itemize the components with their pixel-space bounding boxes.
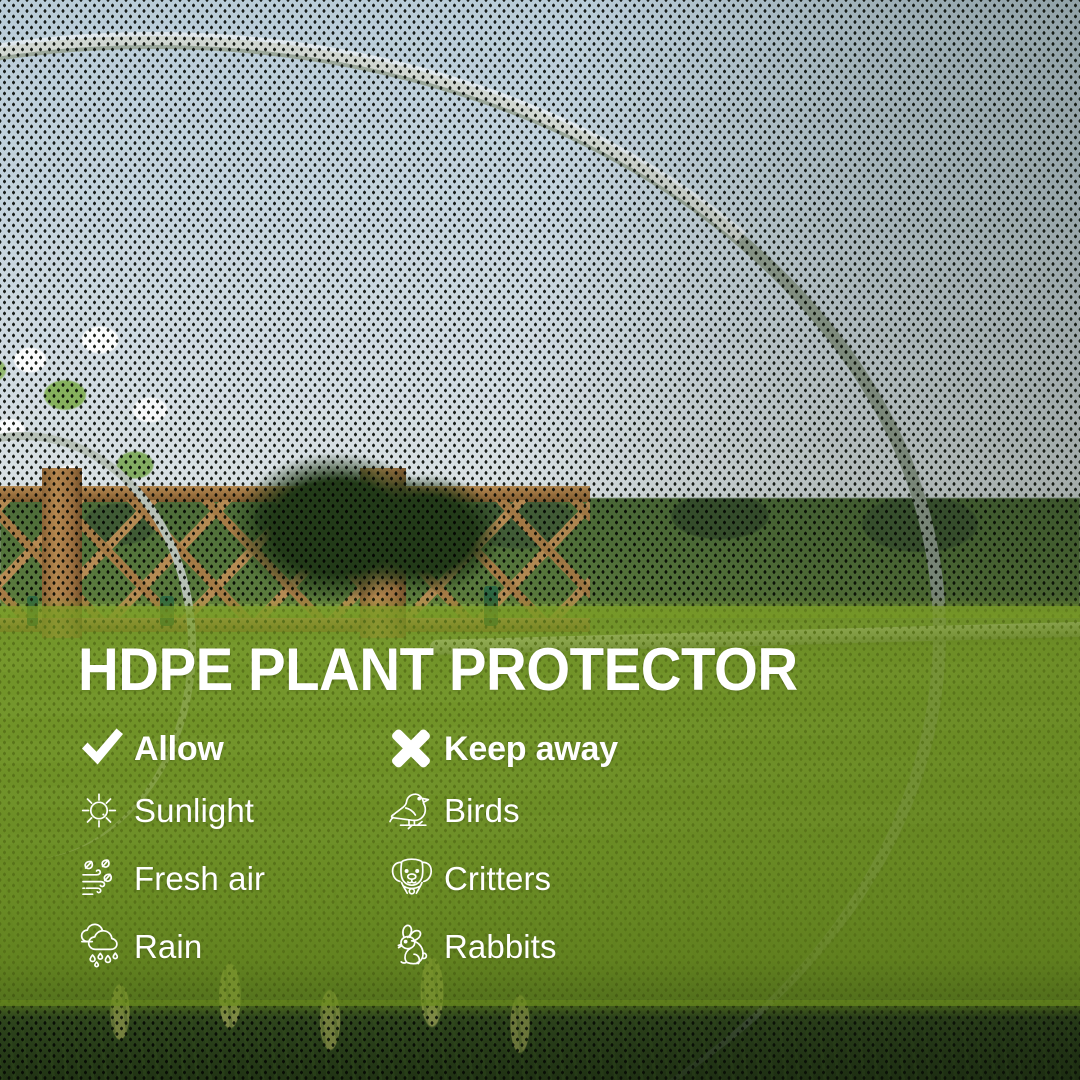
allow-item-label: Rain [134,930,202,963]
keep-away-item-label: Rabbits [444,930,557,963]
keep-away-item-birds: Birds [388,776,708,844]
keep-away-item-critters: Critters [388,844,708,912]
allow-item-label: Fresh air [134,862,265,895]
keep-away-item-label: Birds [444,794,520,827]
product-marketing-image: HDPE PLANT PROTECTOR Allow [0,0,1080,1080]
allow-heading-row: Allow [78,722,378,776]
allow-item-sunlight: Sunlight [78,776,378,844]
allow-heading-label: Allow [134,732,224,766]
keep-away-item-rabbits: Rabbits [388,912,708,980]
allow-item-rain: Rain [78,912,378,980]
check-icon [78,726,134,772]
keep-away-heading-row: Keep away [388,722,708,776]
bird-icon [388,788,444,832]
cross-icon [388,726,444,772]
overlay-content: HDPE PLANT PROTECTOR Allow [0,0,1080,1080]
keep-away-heading-label: Keep away [444,732,618,766]
keep-away-item-label: Critters [444,862,551,895]
allow-column: Allow [78,722,378,980]
page-title: HDPE PLANT PROTECTOR [78,640,798,700]
rabbit-icon [388,923,444,969]
allow-item-label: Sunlight [134,794,254,827]
rain-cloud-icon [78,922,134,970]
sun-icon [78,789,134,831]
dog-icon [388,855,444,901]
allow-item-fresh-air: Fresh air [78,844,378,912]
keep-away-column: Keep away [388,722,708,980]
wind-leaf-icon [78,856,134,900]
